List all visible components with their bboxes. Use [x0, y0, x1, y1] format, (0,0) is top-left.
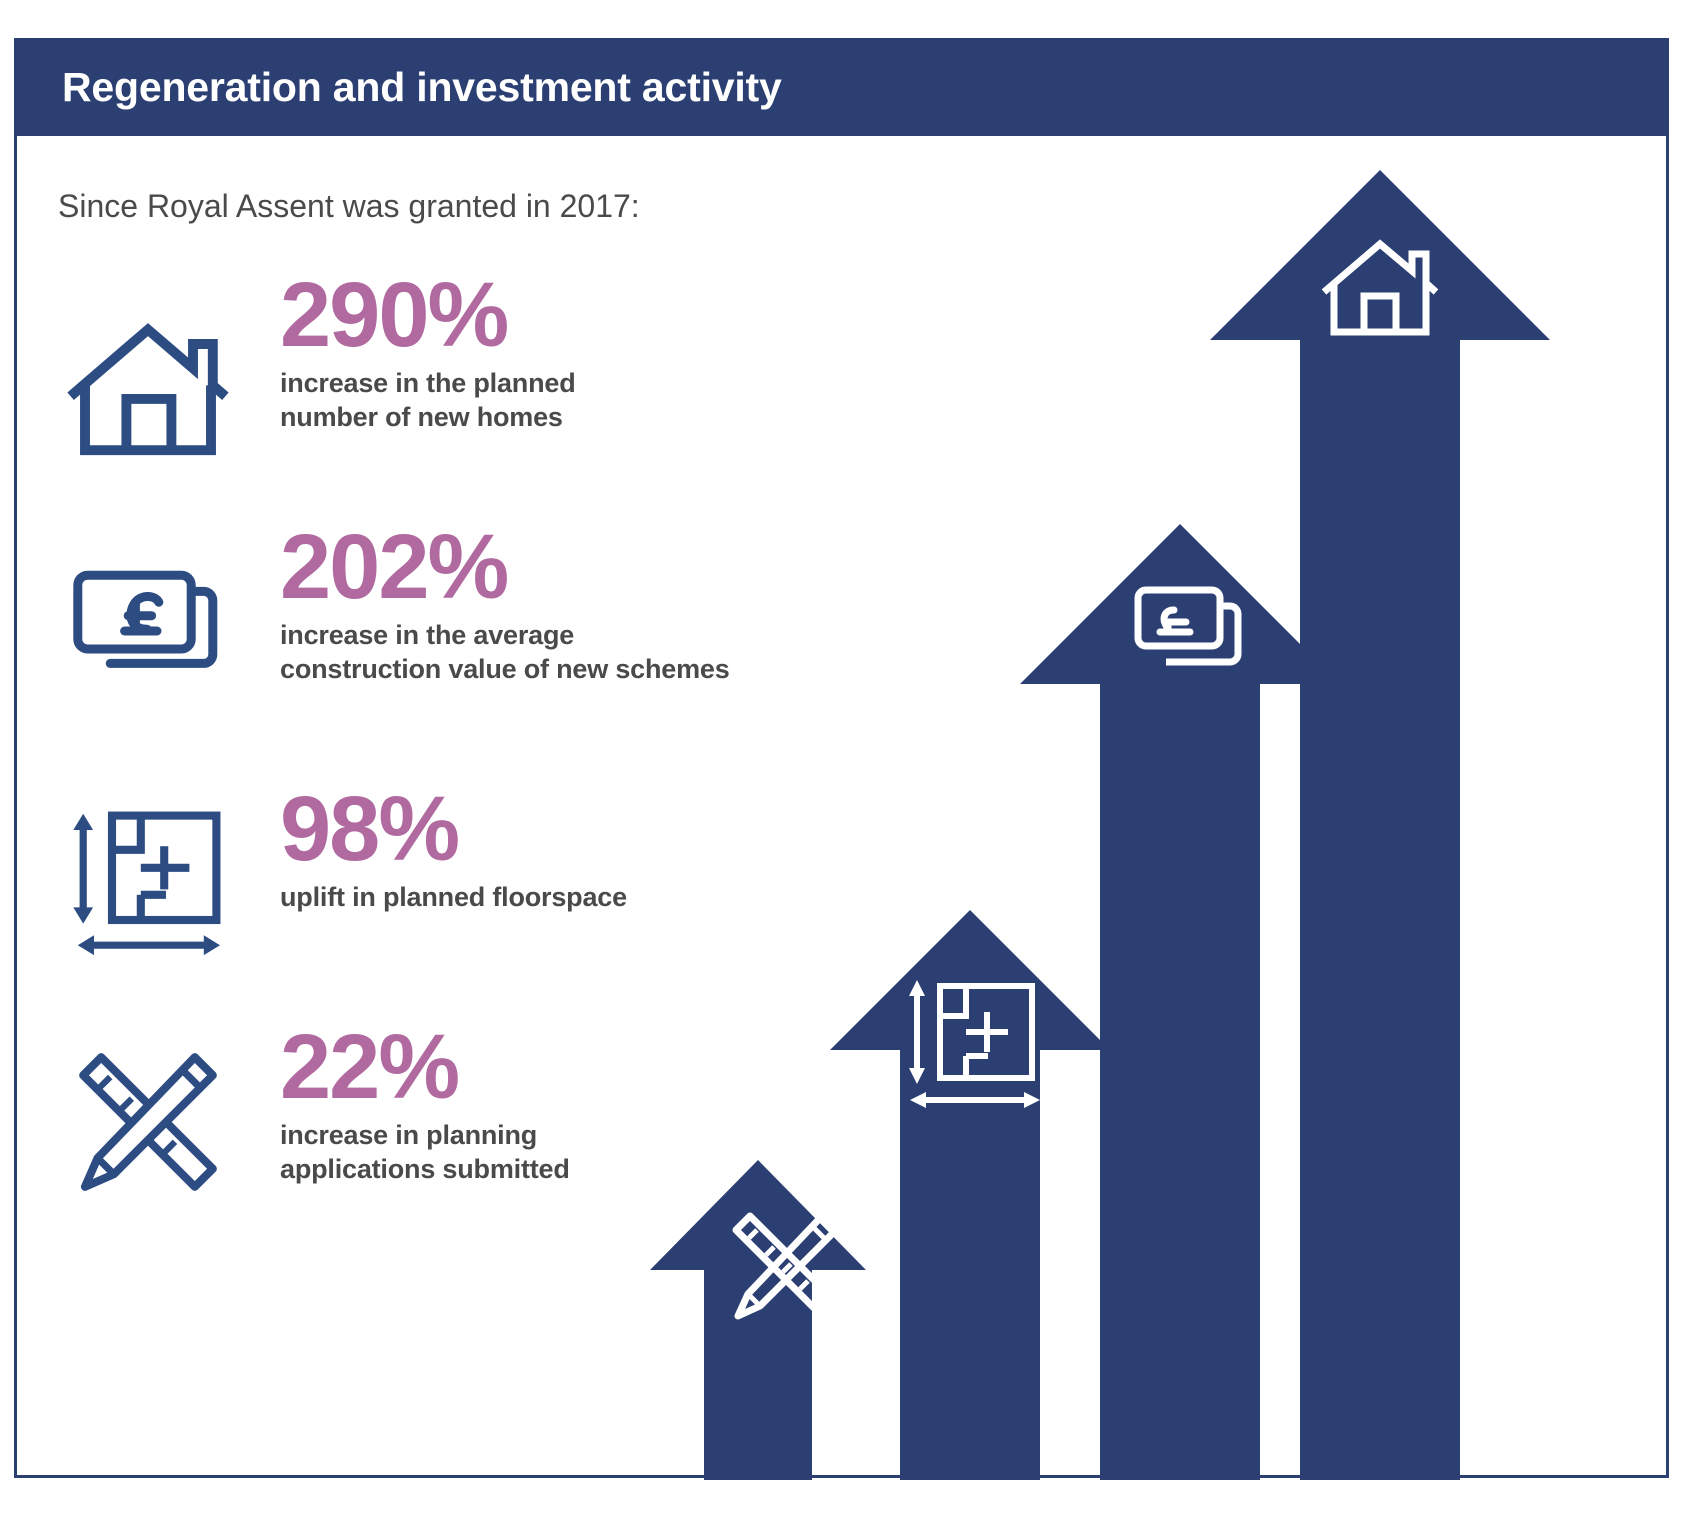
house-icon — [58, 290, 238, 470]
page-title: Regeneration and investment activity — [62, 64, 782, 111]
arrow-pencil-ruler — [650, 1160, 866, 1480]
arrow-floorplan — [830, 910, 1110, 1480]
pencil-ruler-icon — [58, 1032, 238, 1212]
arrow-house — [1210, 170, 1550, 1480]
floorplan-dimensions-icon — [58, 794, 238, 974]
infographic-card: Regeneration and investment activity Sin… — [0, 0, 1698, 1516]
arrow-banknotes — [1020, 524, 1340, 1480]
ascending-arrows-chart — [640, 150, 1570, 1480]
banknotes-pound-icon — [58, 532, 238, 712]
intro-text: Since Royal Assent was granted in 2017: — [58, 188, 640, 225]
title-bar: Regeneration and investment activity — [14, 38, 1669, 136]
